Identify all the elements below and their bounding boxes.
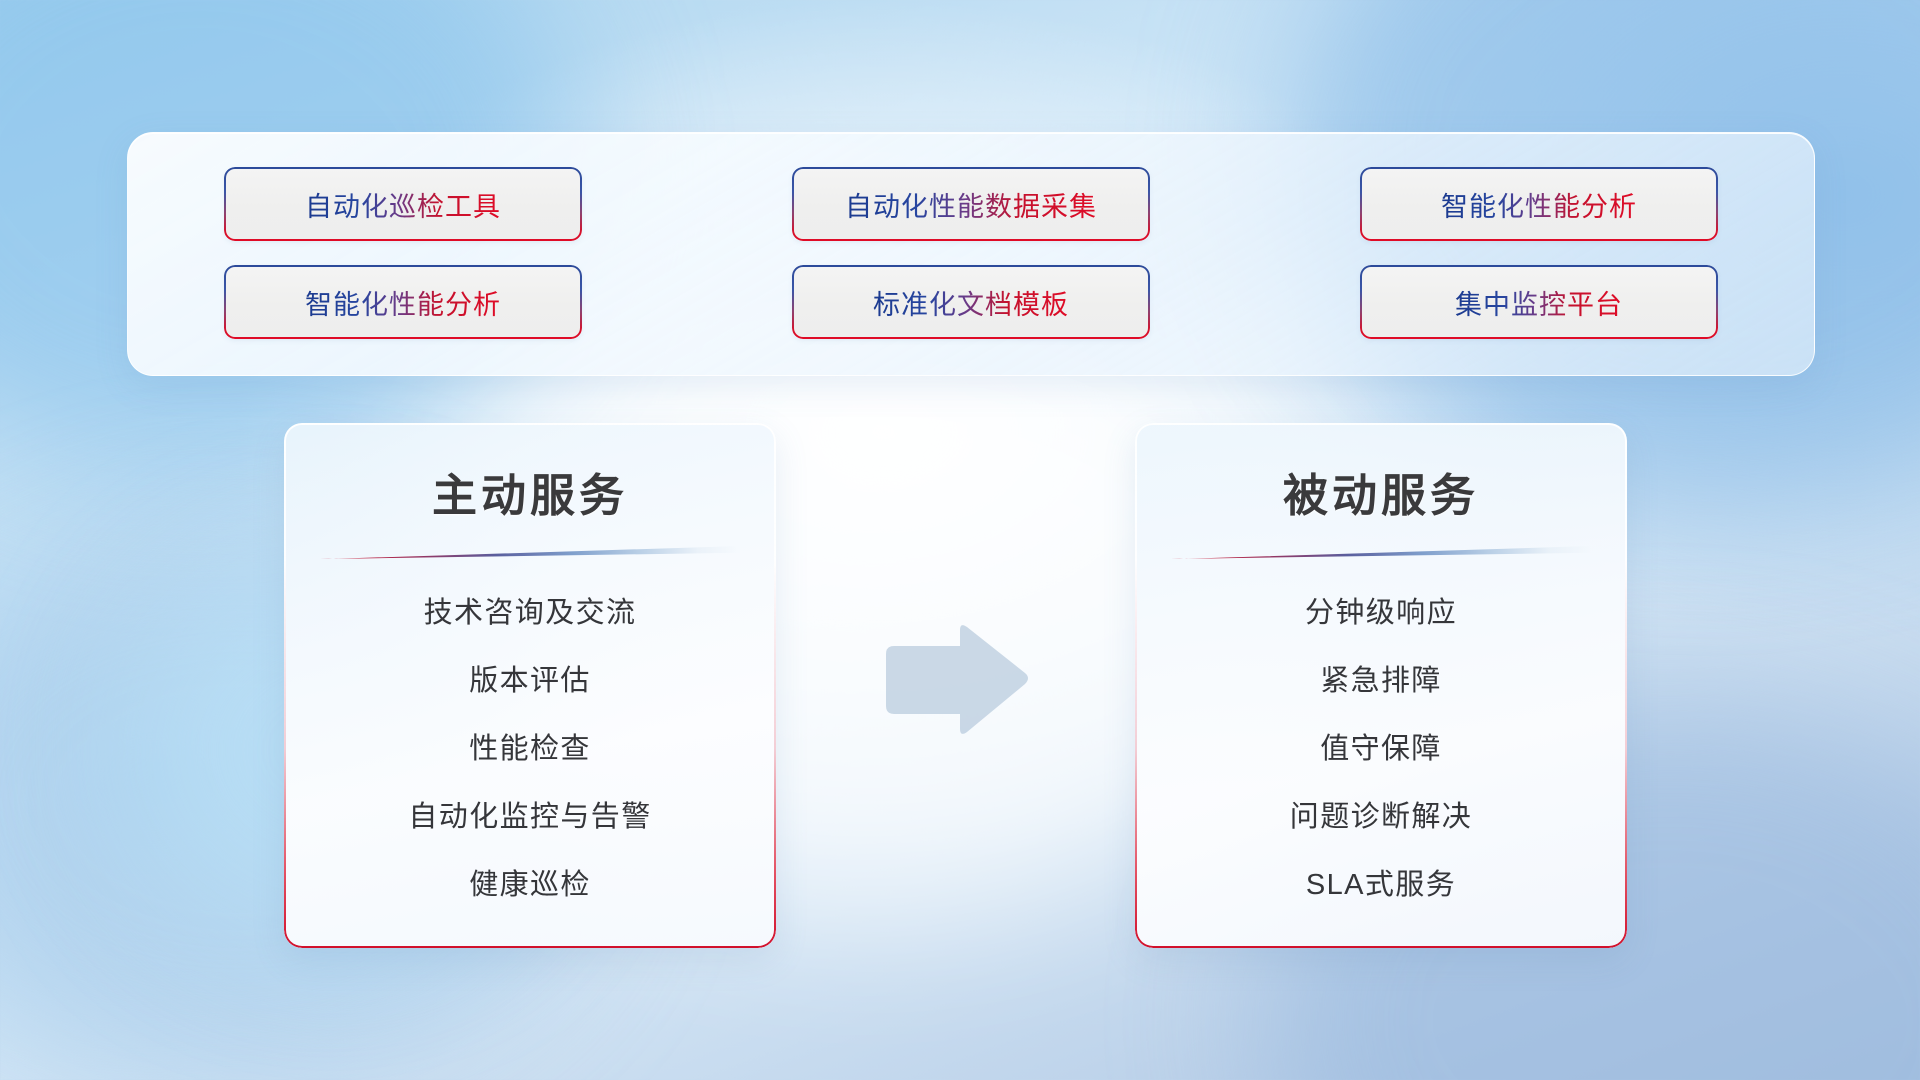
list-item: 技术咨询及交流 (424, 589, 637, 631)
capability-panel: 自动化巡检工具 自动化性能数据采集 智能化性能分析 智能化性能分析 标准化文档模… (127, 132, 1815, 376)
service-list: 技术咨询及交流 版本评估 性能检查 自动化监控与告警 健康巡检 (284, 589, 776, 903)
list-item: 分钟级响应 (1305, 589, 1457, 631)
capability-tag-standard-document-template[interactable]: 标准化文档模板 (792, 265, 1150, 339)
card-divider (320, 546, 740, 559)
service-list: 分钟级响应 紧急排障 值守保障 问题诊断解决 SLA式服务 (1135, 589, 1627, 903)
capability-tag-intelligent-performance-analysis-2[interactable]: 智能化性能分析 (224, 265, 582, 339)
list-item: 问题诊断解决 (1290, 793, 1472, 835)
card-title: 主动服务 (284, 459, 776, 524)
gradient-bar-icon (1171, 546, 1591, 559)
list-item: 健康巡检 (469, 861, 591, 903)
capability-tag-label: 智能化性能分析 (1441, 185, 1637, 224)
capability-tag-label: 标准化文档模板 (873, 283, 1069, 322)
capability-tag-label: 集中监控平台 (1455, 283, 1623, 322)
arrow-right-icon (874, 620, 1030, 740)
capability-tag-label: 智能化性能分析 (305, 283, 501, 322)
list-item: 自动化监控与告警 (408, 793, 651, 835)
capability-tag-automation-inspection-tool[interactable]: 自动化巡检工具 (224, 167, 582, 241)
capability-row-1: 自动化巡检工具 自动化性能数据采集 智能化性能分析 (224, 167, 1718, 241)
service-card-reactive: 被动服务 分钟级响应 紧急排障 值守保障 问题诊断解决 SLA式服务 (1135, 423, 1627, 948)
list-item: 性能检查 (469, 725, 591, 767)
capability-tag-label: 自动化巡检工具 (305, 185, 501, 224)
capability-row-2: 智能化性能分析 标准化文档模板 集中监控平台 (224, 265, 1718, 339)
card-title: 被动服务 (1135, 459, 1627, 524)
list-item: 紧急排障 (1320, 657, 1442, 699)
capability-tag-centralized-monitoring-platform[interactable]: 集中监控平台 (1360, 265, 1718, 339)
gradient-bar-icon (320, 546, 740, 559)
service-card-proactive: 主动服务 技术咨询及交流 版本评估 性能检查 自动化监控与告警 健康巡检 (284, 423, 776, 948)
card-divider (1171, 546, 1591, 559)
capability-tag-label: 自动化性能数据采集 (845, 185, 1097, 224)
capability-tag-intelligent-performance-analysis[interactable]: 智能化性能分析 (1360, 167, 1718, 241)
list-item: 版本评估 (469, 657, 591, 699)
capability-tag-automation-performance-data-collection[interactable]: 自动化性能数据采集 (792, 167, 1150, 241)
list-item: SLA式服务 (1306, 861, 1456, 903)
list-item: 值守保障 (1320, 725, 1442, 767)
